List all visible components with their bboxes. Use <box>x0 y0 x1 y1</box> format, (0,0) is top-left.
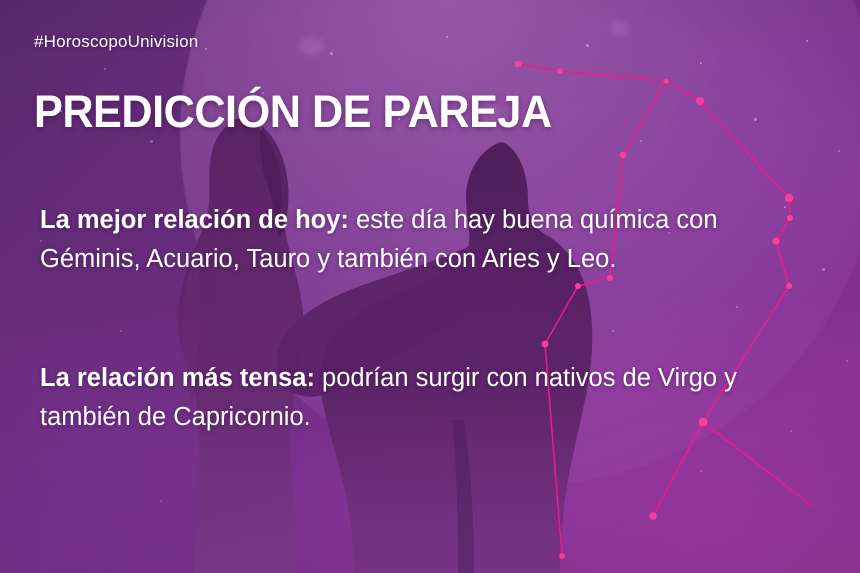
tense-match-paragraph: La relación más tensa: podrían surgir co… <box>40 359 770 437</box>
page-title: PREDICCIÓN DE PAREJA <box>34 89 552 135</box>
horoscope-card: #HoroscopoUnivision PREDICCIÓN DE PAREJA… <box>0 0 860 573</box>
hashtag-label: #HoroscopoUnivision <box>34 32 198 52</box>
best-match-label: La mejor relación de hoy: <box>40 206 349 234</box>
text-content: #HoroscopoUnivision PREDICCIÓN DE PAREJA… <box>0 0 860 573</box>
tense-match-label: La relación más tensa: <box>40 364 315 392</box>
best-match-paragraph: La mejor relación de hoy: este día hay b… <box>40 201 770 279</box>
